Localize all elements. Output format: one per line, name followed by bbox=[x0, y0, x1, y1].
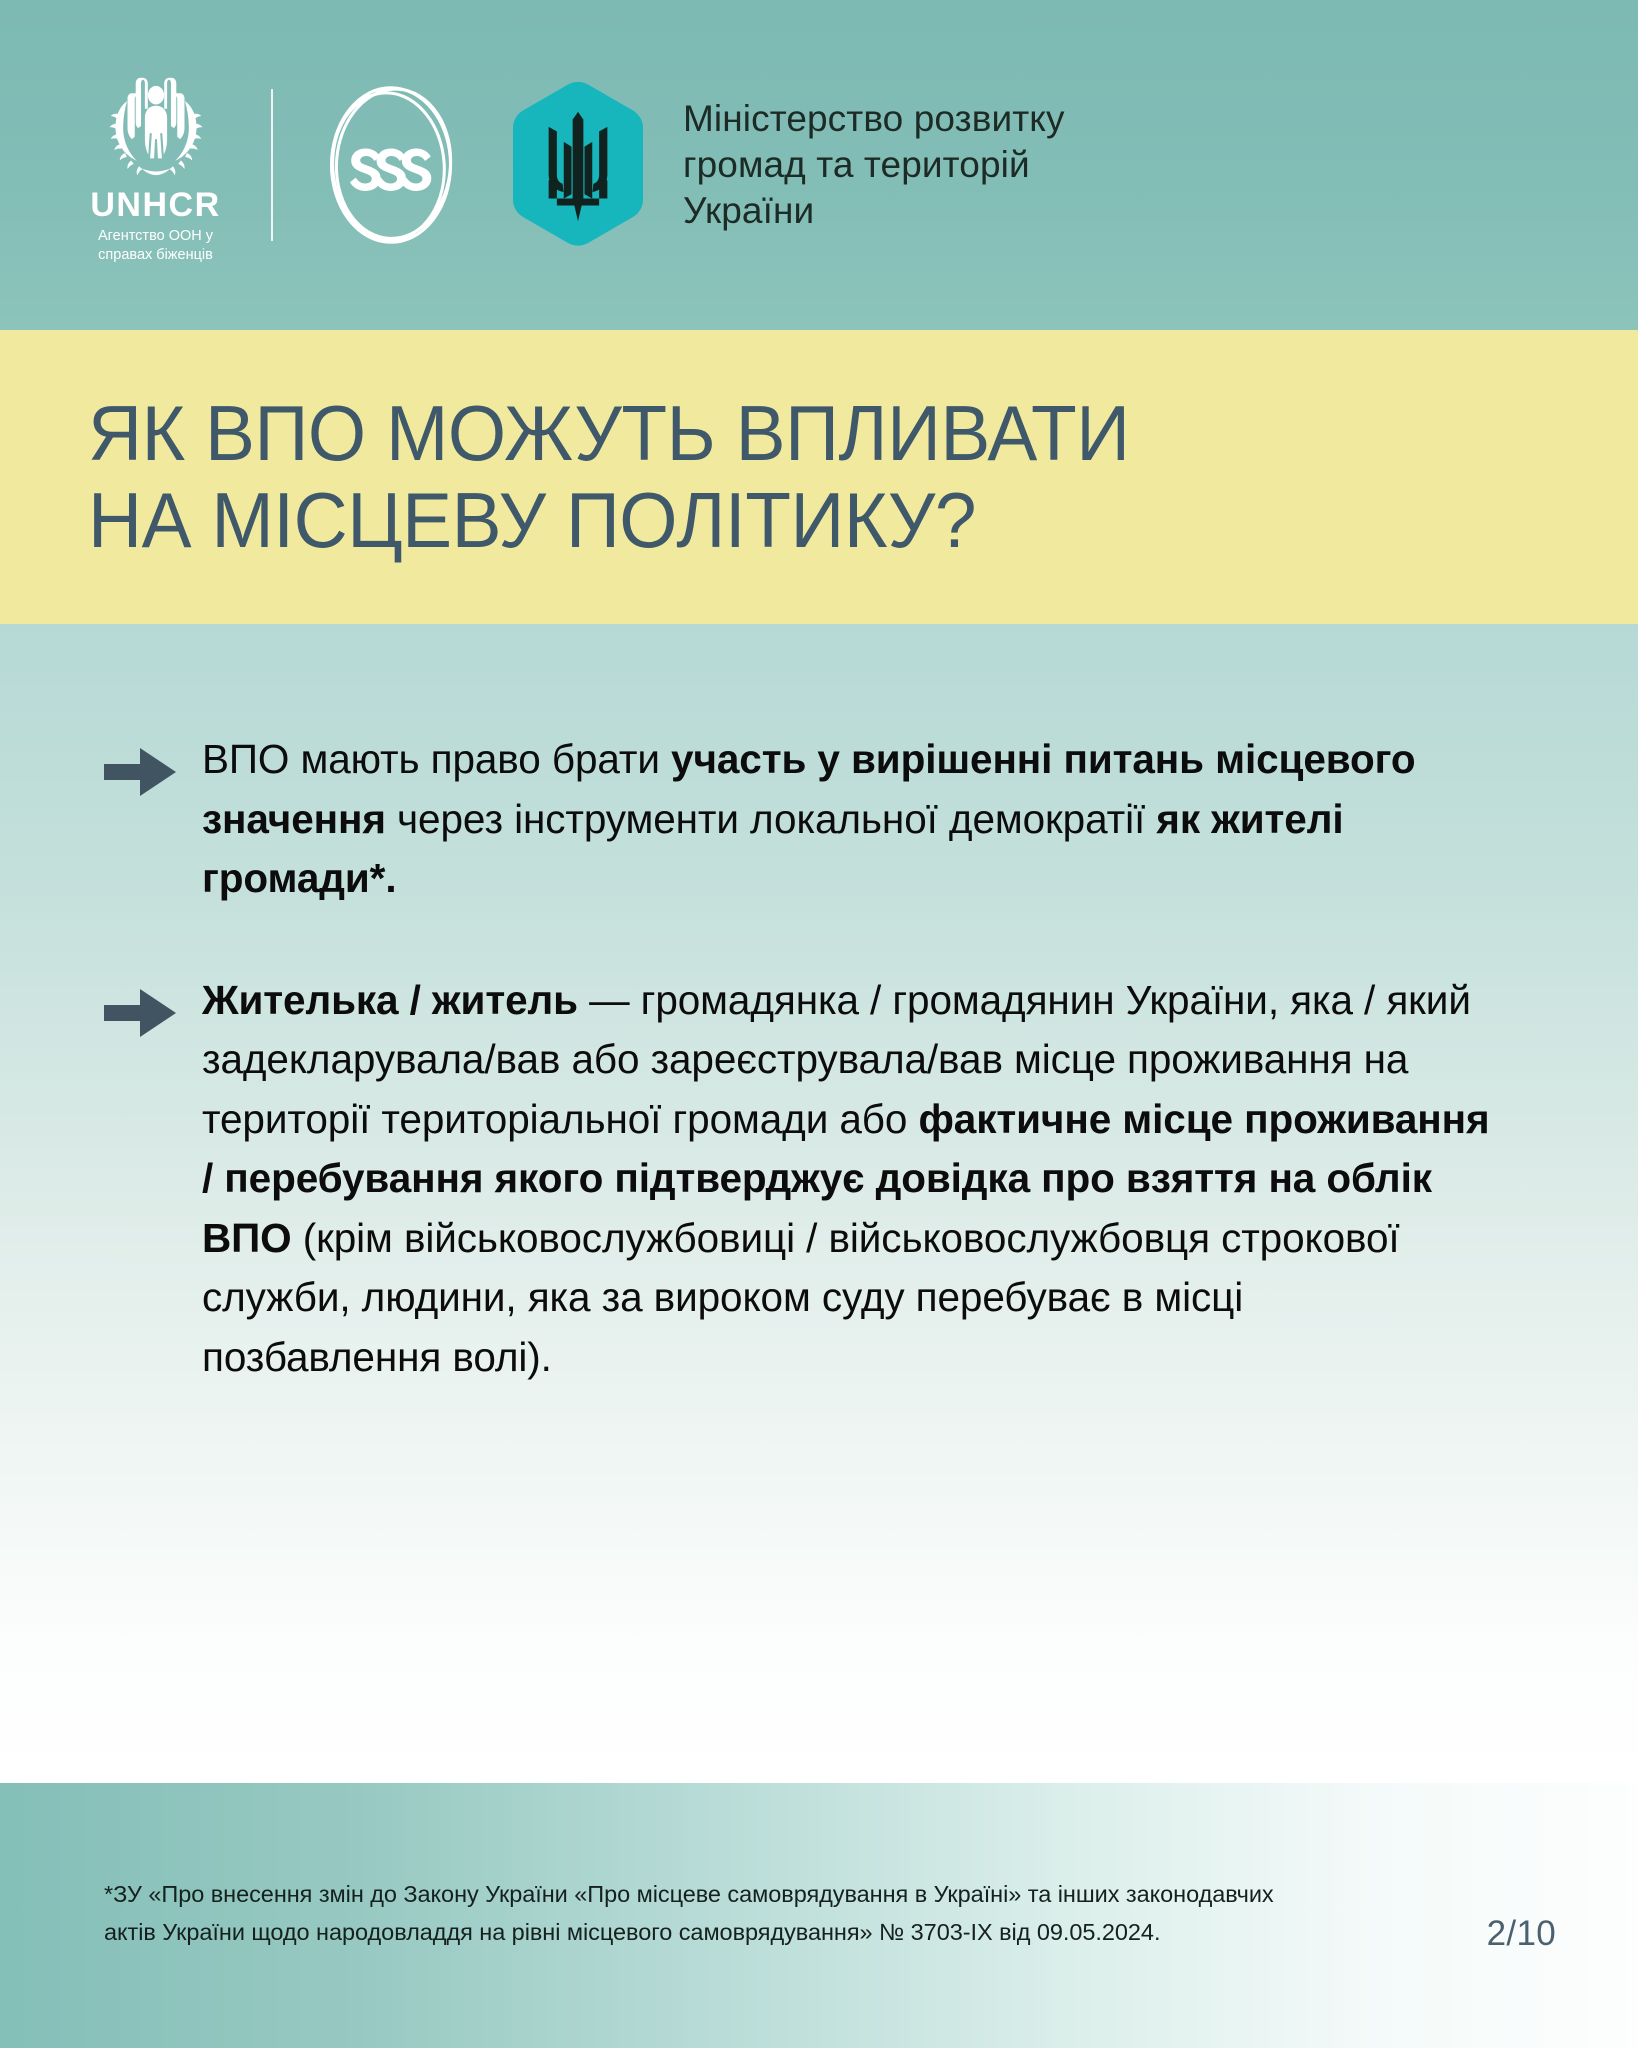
page-footer: *ЗУ «Про внесення змін до Закону України… bbox=[0, 1783, 1638, 2048]
page-header: UNHCR Агентство ООН у справах біженців bbox=[0, 0, 1638, 330]
ukraine-tryzub-icon bbox=[503, 81, 653, 249]
arrow-right-icon bbox=[104, 985, 176, 1041]
bullet-text-2: Жителька / житель — громадянка / громадя… bbox=[202, 971, 1492, 1388]
arrow-right-icon bbox=[104, 744, 176, 800]
header-divider bbox=[271, 89, 273, 241]
bullet-text-1: ВПО мають право брати участь у вирішенні… bbox=[202, 730, 1492, 909]
unhcr-subtitle: Агентство ООН у справах біженців bbox=[98, 227, 213, 263]
text-segment-bold: Жителька / житель bbox=[202, 977, 578, 1023]
sss-logo-icon bbox=[315, 75, 467, 255]
page-title: ЯК ВПО МОЖУТЬ ВПЛИВАТИ НА МІСЦЕВУ ПОЛІТИ… bbox=[88, 390, 1130, 565]
unhcr-logo: UNHCR Агентство ООН у справах біженців bbox=[78, 72, 233, 263]
bullet-item: ВПО мають право брати участь у вирішенні… bbox=[104, 730, 1542, 909]
ministry-title: Міністерство розвитку громад та територі… bbox=[683, 96, 1065, 234]
content-area: ВПО мають право брати участь у вирішенні… bbox=[0, 624, 1638, 1783]
text-segment: ВПО мають право брати bbox=[202, 736, 671, 782]
bullet-item: Жителька / житель — громадянка / громадя… bbox=[104, 971, 1542, 1388]
unhcr-emblem-icon bbox=[97, 72, 215, 184]
infographic-page: UNHCR Агентство ООН у справах біженців bbox=[0, 0, 1638, 2048]
unhcr-wordmark: UNHCR bbox=[90, 188, 220, 222]
text-segment: (крім військовослужбовиці / військовослу… bbox=[202, 1215, 1400, 1380]
footnote-text: *ЗУ «Про внесення змін до Закону України… bbox=[104, 1875, 1319, 1951]
page-number: 2/10 bbox=[1487, 1914, 1556, 1954]
title-band: ЯК ВПО МОЖУТЬ ВПЛИВАТИ НА МІСЦЕВУ ПОЛІТИ… bbox=[0, 330, 1638, 624]
text-segment: через інструменти локальної демократії bbox=[386, 796, 1156, 842]
